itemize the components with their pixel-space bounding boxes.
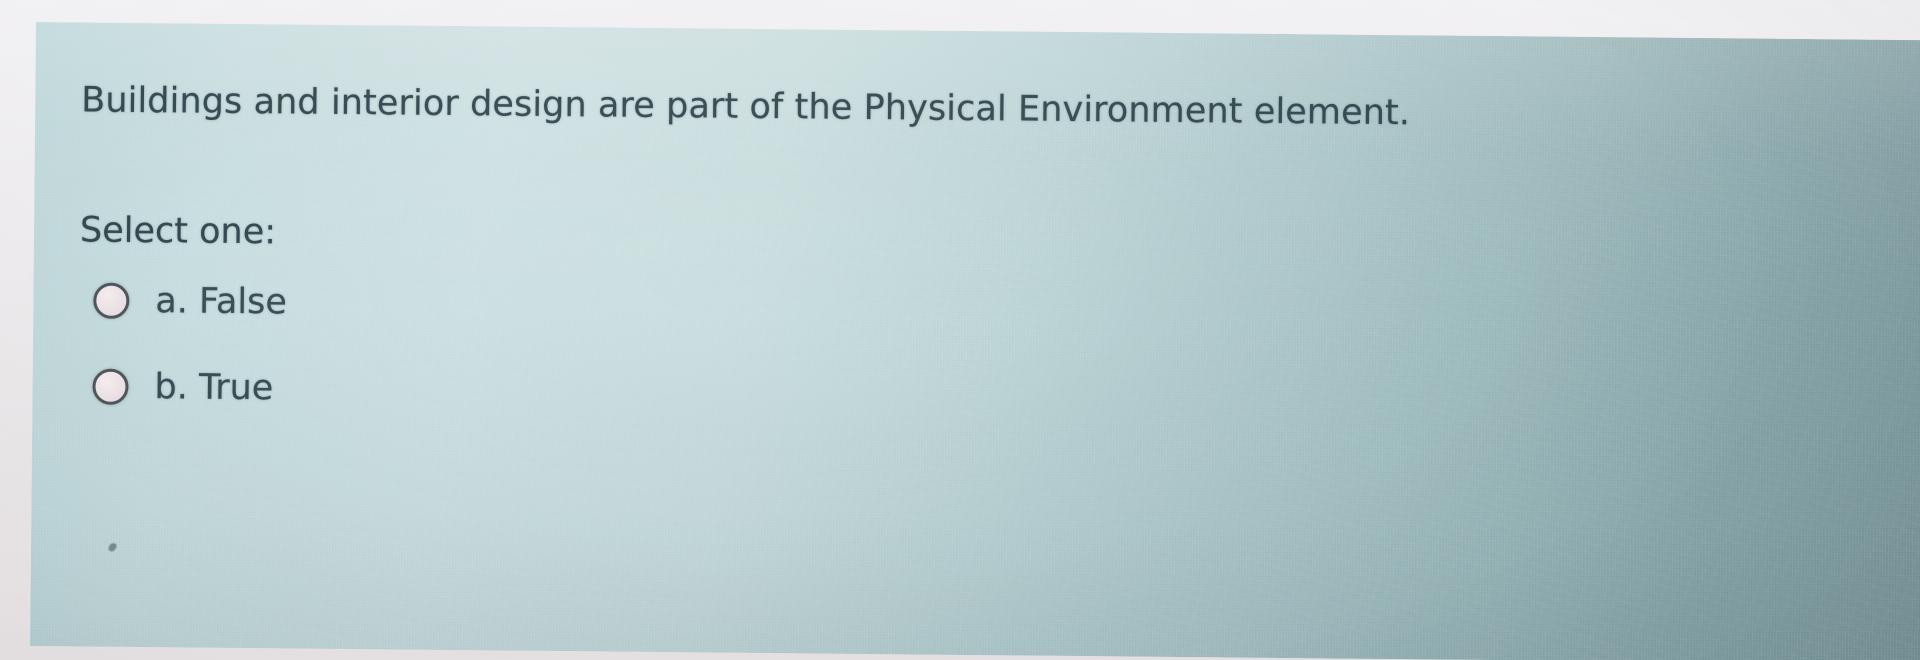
answer-option-b[interactable]: b. True <box>92 367 273 409</box>
answer-option-a-label: a. False <box>155 281 287 322</box>
answer-option-b-label: b. True <box>154 367 273 408</box>
radio-unchecked-icon[interactable] <box>93 283 129 319</box>
question-statement: Buildings and interior design are part o… <box>81 80 1410 133</box>
dust-speck-artifact <box>107 542 117 553</box>
radio-unchecked-icon[interactable] <box>92 369 128 405</box>
select-one-prompt: Select one: <box>80 210 276 252</box>
answer-option-a[interactable]: a. False <box>93 281 287 323</box>
question-content: Buildings and interior design are part o… <box>30 22 1920 660</box>
screenshot-photo: Buildings and interior design are part o… <box>0 0 1920 660</box>
question-panel: Buildings and interior design are part o… <box>30 22 1920 660</box>
